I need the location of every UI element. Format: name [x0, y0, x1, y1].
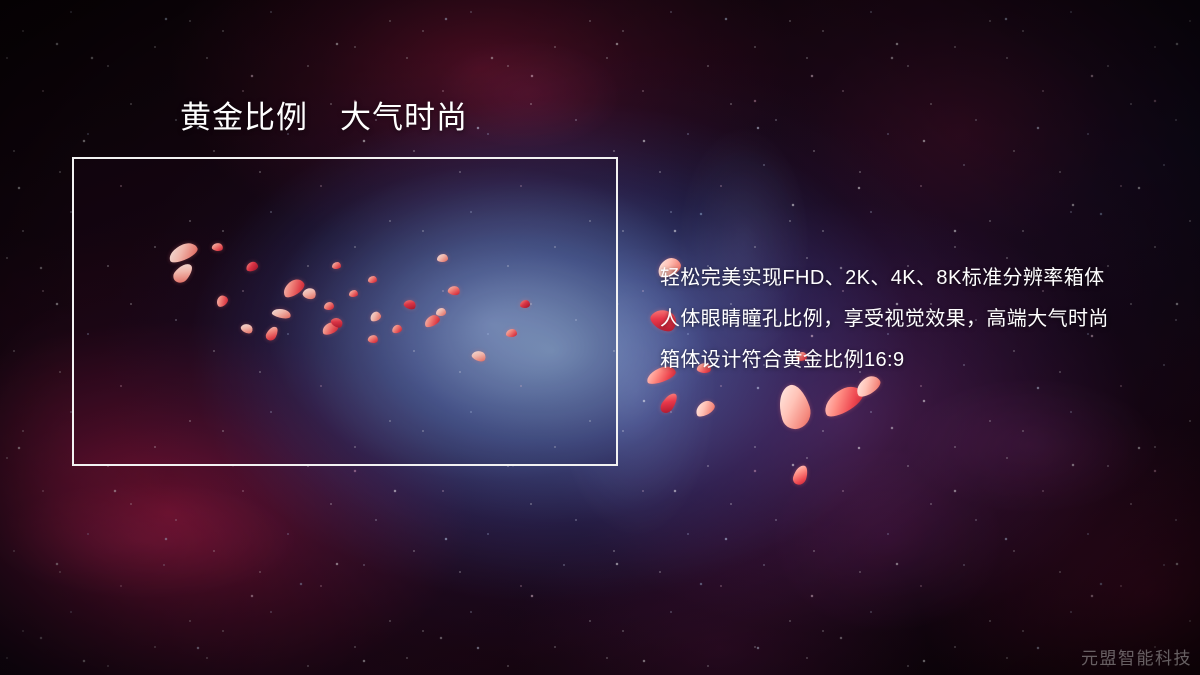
body-line-1: 轻松完美实现FHD、2K、4K、8K标准分辨率箱体 [660, 258, 1180, 299]
watermark-brand: 元盟智能科技 [1081, 644, 1192, 669]
flower-petal [819, 381, 866, 420]
body-line-2: 人体眼睛瞳孔比例，享受视觉效果，高端大气时尚 [660, 299, 1180, 340]
body-line-3: 箱体设计符合黄金比例16:9 [660, 340, 1180, 381]
body-text-block: 轻松完美实现FHD、2K、4K、8K标准分辨率箱体 人体眼睛瞳孔比例，享受视觉效… [660, 258, 1180, 381]
flower-petal [693, 398, 717, 418]
page-title: 黄金比例 大气时尚 [180, 100, 468, 137]
flower-petal [773, 381, 815, 432]
flower-petal [658, 390, 679, 415]
flower-petal [791, 464, 809, 487]
framed-image-panel[interactable] [72, 157, 618, 466]
presentation-slide: 黄金比例 大气时尚 轻松完美实现FHD、2K、4K、8K标准分辨率箱体 人体眼睛… [0, 0, 1200, 675]
panel-tint-overlay [74, 159, 616, 464]
